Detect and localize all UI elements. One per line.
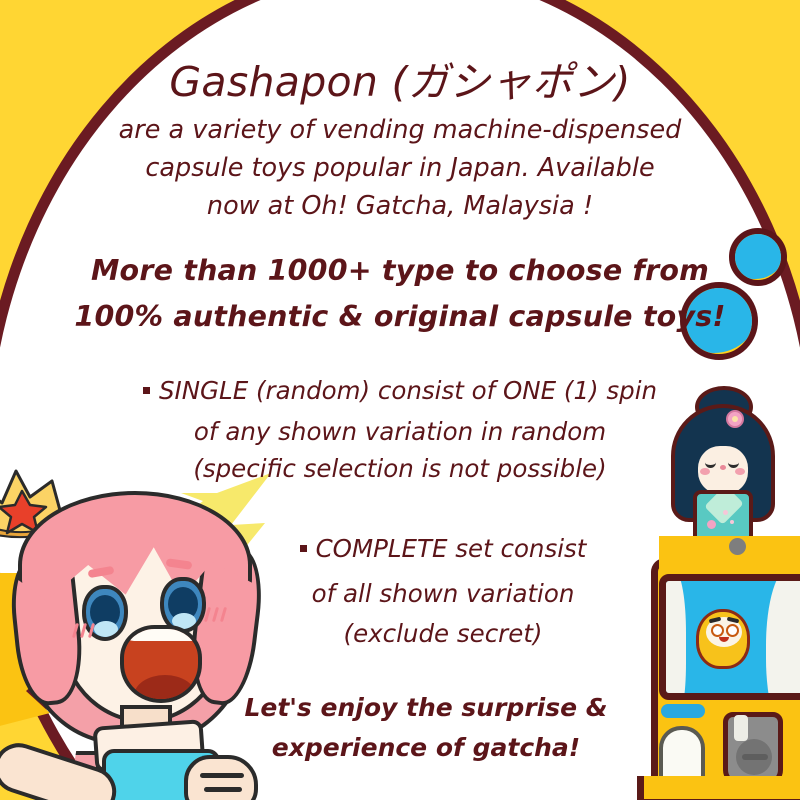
bullet-square-icon (143, 387, 150, 394)
lead-line-3: now at Oh! Gatcha, Malaysia ! (0, 194, 800, 220)
single-option-line-1: SINGLE (random) consist of ONE (1) spin (0, 379, 800, 404)
single-option-line-2: of any shown variation in random (0, 420, 800, 445)
bullet-square-icon (300, 545, 307, 552)
poster-text-content: Gashapon (ガシャポン) are a variety of vendin… (0, 0, 800, 800)
tagline-line-1: Let's enjoy the surprise & (0, 695, 800, 720)
complete-option-line-1: COMPLETE set consist (0, 537, 800, 562)
complete-option-line-3: (exclude secret) (0, 622, 800, 647)
single-option-text-1: SINGLE (random) consist of ONE (1) spin (159, 376, 657, 405)
lead-line-2: capsule toys popular in Japan. Available (0, 156, 800, 182)
gashapon-promo-poster: Gashapon (ガシャポン) are a variety of vendin… (0, 0, 800, 800)
highlight-line-1: More than 1000+ type to choose from (0, 257, 800, 286)
page-title: Gashapon (ガシャポン) (0, 62, 800, 103)
lead-line-1: are a variety of vending machine-dispens… (0, 118, 800, 144)
highlight-line-2: 100% authentic & original capsule toys! (0, 303, 800, 332)
tagline-line-2: experience of gatcha! (0, 735, 800, 760)
complete-option-line-2: of all shown variation (0, 582, 800, 607)
single-option-line-3: (specific selection is not possible) (0, 457, 800, 482)
complete-option-text-1: COMPLETE set consist (316, 534, 587, 563)
